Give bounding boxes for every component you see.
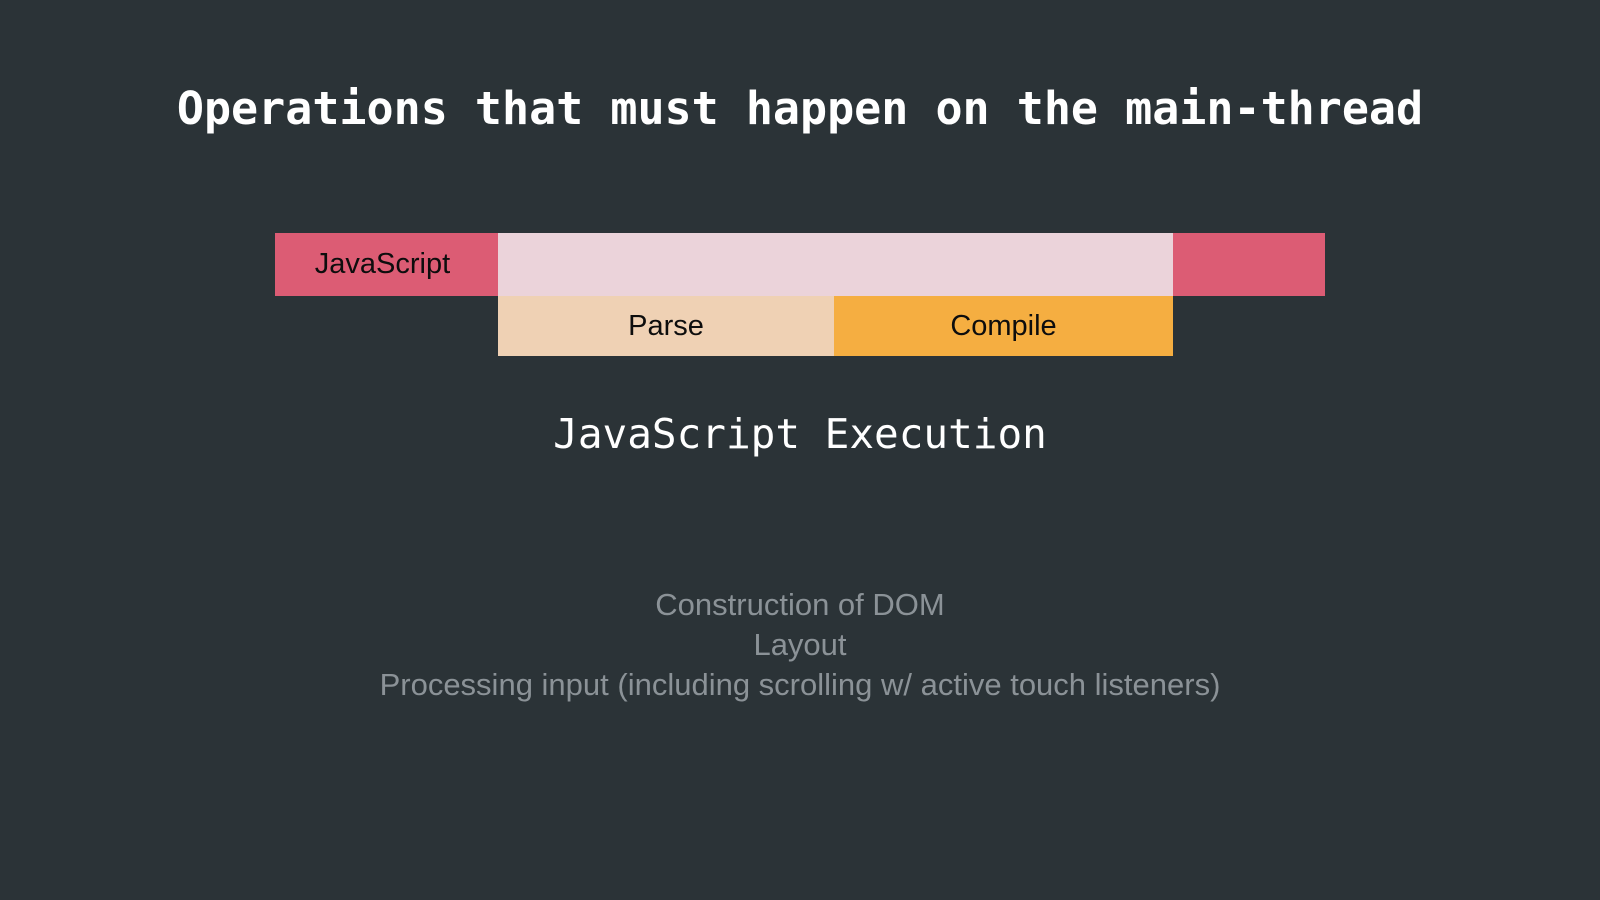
timeline-segment-javascript-body bbox=[498, 233, 1173, 296]
main-thread-operations-list: Construction of DOM Layout Processing in… bbox=[0, 585, 1600, 705]
diagram-caption: JavaScript Execution bbox=[0, 410, 1600, 458]
list-item: Construction of DOM bbox=[0, 585, 1600, 625]
timeline-segment-parse: Parse bbox=[498, 296, 834, 356]
list-item: Processing input (including scrolling w/… bbox=[0, 665, 1600, 705]
timeline-segment-parse-label: Parse bbox=[628, 310, 704, 343]
list-item: Layout bbox=[0, 625, 1600, 665]
timeline-segment-javascript-tail bbox=[1173, 233, 1325, 296]
slide-root: Operations that must happen on the main-… bbox=[0, 0, 1600, 900]
timeline-segment-javascript: JavaScript bbox=[275, 233, 498, 296]
timeline-diagram: JavaScript Parse Compile bbox=[0, 233, 1600, 357]
timeline-segment-compile: Compile bbox=[834, 296, 1173, 356]
timeline-segment-compile-label: Compile bbox=[950, 310, 1056, 343]
timeline-segment-javascript-label: JavaScript bbox=[315, 248, 458, 281]
page-title: Operations that must happen on the main-… bbox=[0, 82, 1600, 135]
